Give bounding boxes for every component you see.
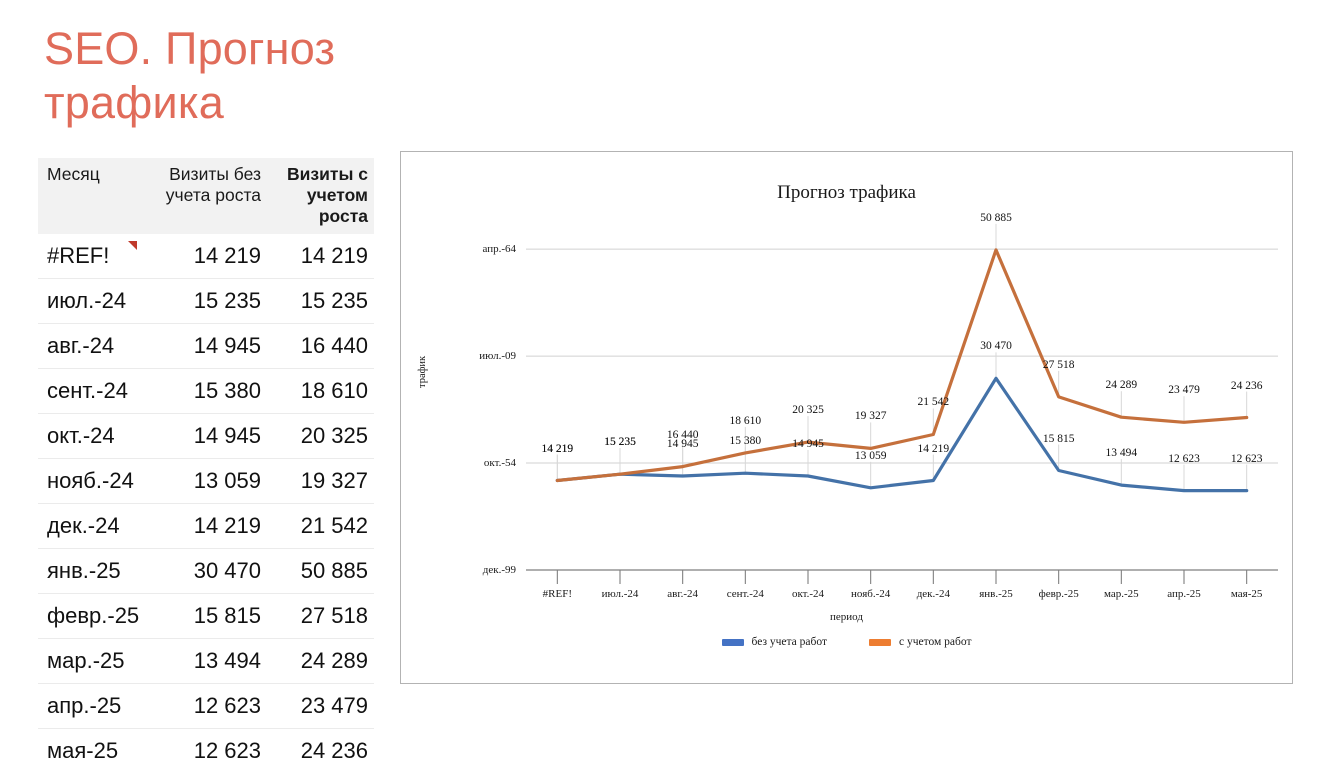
cell-month: мая-25 [38, 729, 160, 773]
data-label: 24 289 [1106, 379, 1138, 391]
x-axis-tick-label: нояб.-24 [851, 588, 890, 600]
data-label: 16 440 [667, 429, 699, 441]
table-row: июл.-2415 23515 235 [38, 279, 374, 324]
cell-with-growth: 20 325 [266, 414, 374, 459]
table-row: дек.-2414 21921 542 [38, 504, 374, 549]
table-header: Месяц Визиты без учета роста Визиты с уч… [38, 158, 374, 234]
legend-item[interactable]: без учета работ [722, 636, 827, 648]
cell-with-growth: 21 542 [266, 504, 374, 549]
data-label: 19 327 [855, 410, 887, 422]
cell-with-growth: 24 236 [266, 729, 374, 773]
data-label: 14 219 [542, 443, 574, 455]
cell-month: окт.-24 [38, 414, 160, 459]
cell-month: мар.-25 [38, 639, 160, 684]
x-axis-tick-label: сент.-24 [727, 588, 764, 600]
cell-without-growth: 15 380 [160, 369, 266, 414]
cell-month: апр.-25 [38, 684, 160, 729]
x-axis-title: период [401, 611, 1292, 623]
traffic-forecast-table: Месяц Визиты без учета роста Визиты с уч… [38, 158, 374, 773]
cell-month: нояб.-24 [38, 459, 160, 504]
x-axis-tick-label: февр.-25 [1039, 588, 1079, 600]
table-row: февр.-2515 81527 518 [38, 594, 374, 639]
cell-without-growth: 15 815 [160, 594, 266, 639]
cell-with-growth: 16 440 [266, 324, 374, 369]
cell-without-growth: 12 623 [160, 729, 266, 773]
data-label: 30 470 [980, 340, 1012, 352]
data-label: 14 219 [918, 443, 950, 455]
cell-without-growth: 14 945 [160, 414, 266, 459]
legend-label: без учета работ [752, 636, 827, 648]
cell-with-growth: 14 219 [266, 234, 374, 279]
x-axis-tick-label: дек.-24 [917, 588, 950, 600]
column-header-with-growth: Визиты с учетом роста [266, 158, 374, 234]
cell-with-growth: 23 479 [266, 684, 374, 729]
chart-container: Прогноз трафика трафик дек.-99окт.-54июл… [400, 151, 1293, 684]
cell-with-growth: 24 289 [266, 639, 374, 684]
cell-without-growth: 12 623 [160, 684, 266, 729]
table-row: янв.-2530 47050 885 [38, 549, 374, 594]
cell-with-growth: 19 327 [266, 459, 374, 504]
data-label: 27 518 [1043, 359, 1075, 371]
cell-month: сент.-24 [38, 369, 160, 414]
legend-item[interactable]: с учетом работ [869, 636, 972, 648]
table-row: апр.-2512 62323 479 [38, 684, 374, 729]
table-row: сент.-2415 38018 610 [38, 369, 374, 414]
x-axis-tick-label: мая-25 [1231, 588, 1263, 600]
chart-legend: без учета работс учетом работ [401, 636, 1292, 648]
cell-with-growth: 15 235 [266, 279, 374, 324]
x-axis-tick-label: #REF! [543, 588, 572, 600]
comment-marker-icon [128, 241, 137, 250]
data-label: 23 479 [1168, 384, 1200, 396]
data-label: 15 815 [1043, 433, 1075, 445]
table-row: #REF!14 21914 219 [38, 234, 374, 279]
chart-plot-area [401, 152, 1294, 685]
table-header-row: Месяц Визиты без учета роста Визиты с уч… [38, 158, 374, 234]
column-header-month: Месяц [38, 158, 160, 234]
data-label: 24 236 [1231, 380, 1263, 392]
cell-without-growth: 14 945 [160, 324, 266, 369]
x-axis-tick-label: мар.-25 [1104, 588, 1139, 600]
table-row: авг.-2414 94516 440 [38, 324, 374, 369]
x-axis-tick-label: янв.-25 [979, 588, 1013, 600]
data-label: 20 325 [792, 404, 824, 416]
cell-month: авг.-24 [38, 324, 160, 369]
legend-swatch-icon [722, 639, 744, 646]
cell-month: янв.-25 [38, 549, 160, 594]
data-label: 13 494 [1106, 447, 1138, 459]
data-label: 15 235 [604, 436, 636, 448]
cell-without-growth: 13 494 [160, 639, 266, 684]
y-axis-tick-label: окт.-54 [434, 457, 516, 469]
cell-without-growth: 13 059 [160, 459, 266, 504]
table-row: мар.-2513 49424 289 [38, 639, 374, 684]
legend-swatch-icon [869, 639, 891, 646]
data-label: 21 542 [918, 396, 950, 408]
data-label: 13 059 [855, 450, 887, 462]
data-label: 50 885 [980, 212, 1012, 224]
table-row: мая-2512 62324 236 [38, 729, 374, 773]
cell-with-growth: 50 885 [266, 549, 374, 594]
cell-without-growth: 15 235 [160, 279, 266, 324]
page-title: SEO. Прогноз трафика [44, 22, 384, 130]
cell-month: февр.-25 [38, 594, 160, 639]
data-label: 15 380 [730, 435, 762, 447]
x-axis-tick-label: окт.-24 [792, 588, 824, 600]
series-line-without-growth [557, 378, 1246, 490]
data-label: 18 610 [730, 415, 762, 427]
y-axis-tick-label: июл.-09 [434, 350, 516, 362]
table-body: #REF!14 21914 219июл.-2415 23515 235авг.… [38, 234, 374, 773]
data-label: 12 623 [1231, 453, 1263, 465]
column-header-without-growth: Визиты без учета роста [160, 158, 266, 234]
cell-with-growth: 27 518 [266, 594, 374, 639]
table-row: нояб.-2413 05919 327 [38, 459, 374, 504]
x-axis-tick-label: июл.-24 [602, 588, 639, 600]
cell-without-growth: 14 219 [160, 504, 266, 549]
y-axis-tick-label: апр.-64 [434, 243, 516, 255]
y-axis-tick-label: дек.-99 [434, 564, 516, 576]
cell-with-growth: 18 610 [266, 369, 374, 414]
cell-month: дек.-24 [38, 504, 160, 549]
legend-label: с учетом работ [899, 636, 972, 648]
data-label: 12 623 [1168, 453, 1200, 465]
cell-month: июл.-24 [38, 279, 160, 324]
x-axis-tick-label: авг.-24 [667, 588, 698, 600]
cell-without-growth: 14 219 [160, 234, 266, 279]
x-axis-tick-label: апр.-25 [1167, 588, 1201, 600]
series-line-with-growth [557, 250, 1246, 481]
data-label: 14 945 [792, 438, 824, 450]
table-row: окт.-2414 94520 325 [38, 414, 374, 459]
cell-without-growth: 30 470 [160, 549, 266, 594]
cell-month: #REF! [38, 234, 160, 279]
